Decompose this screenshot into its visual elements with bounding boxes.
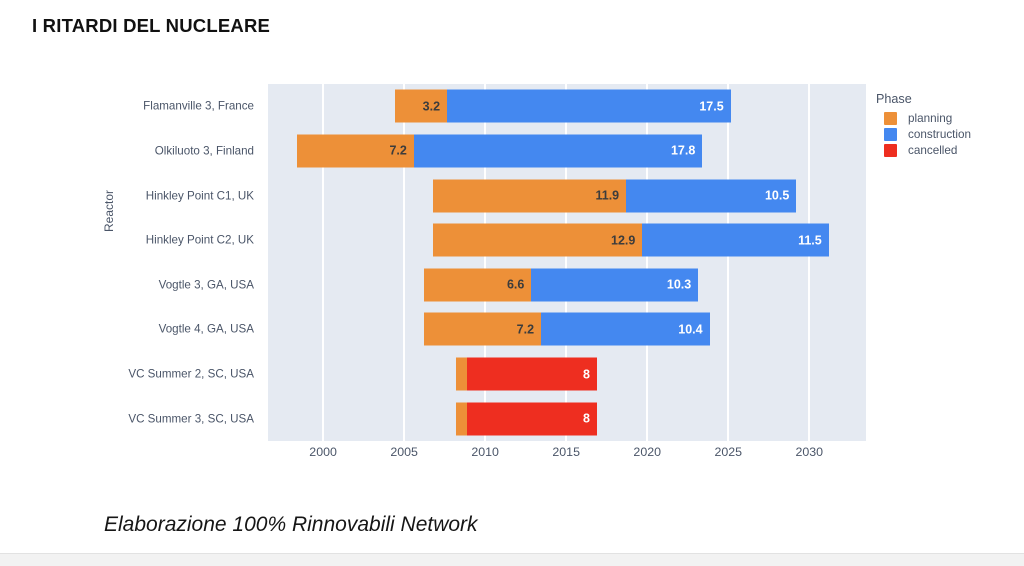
y-axis-tick-label: Vogtle 3, GA, USA [159,278,254,291]
bar-segment-planning[interactable]: 3.2 [395,90,447,123]
legend-item-planning[interactable]: planning [876,112,1016,125]
legend-item-label: construction [908,128,971,141]
bar-segment-planning[interactable]: 7.2 [297,134,414,167]
bar-segment-planning[interactable]: 12.9 [433,224,642,257]
plot-area: 3.217.57.217.811.910.512.911.56.610.37.2… [268,84,866,441]
bar-segment-cancelled[interactable]: 8 [467,358,597,391]
bar-value-label: 3.2 [423,99,440,113]
bar-segment-planning[interactable] [456,402,467,435]
bar-row: 3.217.5 [268,84,866,129]
x-axis-tick-label: 2025 [714,445,742,459]
legend-swatch-icon [884,144,897,157]
bar-value-label: 17.5 [699,99,723,113]
y-axis-tick-label: VC Summer 3, SC, USA [128,412,254,425]
window-bottom-strip [0,553,1024,566]
bar-value-label: 10.5 [765,189,789,203]
bar-value-label: 12.9 [611,233,635,247]
bar-value-label: 8 [583,367,590,381]
bar-row: 11.910.5 [268,173,866,218]
legend-items: planningconstructioncancelled [876,112,1016,157]
bar-value-label: 8 [583,412,590,426]
bar-value-label: 10.3 [667,278,691,292]
legend-item-label: planning [908,112,952,125]
bar-value-label: 7.2 [389,144,406,158]
chart-figure: Reactor Flamanville 3, FranceOlkiluoto 3… [0,0,1024,470]
bar-segment-construction[interactable]: 10.3 [531,268,698,301]
bar-row: 6.610.3 [268,263,866,308]
bar-value-label: 6.6 [507,278,524,292]
bar-value-label: 10.4 [678,322,702,336]
chart-caption: Elaborazione 100% Rinnovabili Network [104,513,478,537]
bar-segment-construction[interactable]: 17.8 [414,134,702,167]
bar-segment-construction[interactable]: 10.4 [541,313,710,346]
bar-row: 12.911.5 [268,218,866,263]
bar-value-label: 17.8 [671,144,695,158]
y-axis-tick-label: VC Summer 2, SC, USA [128,368,254,381]
x-axis-tick-label: 2000 [309,445,337,459]
legend-item-label: cancelled [908,144,957,157]
bar-row: 7.217.8 [268,129,866,174]
bar-value-label: 11.9 [596,189,620,203]
x-axis-tick-label: 2010 [471,445,499,459]
bar-segment-planning[interactable]: 11.9 [433,179,626,212]
y-axis-tick-label: Flamanville 3, France [143,100,254,113]
legend-item-cancelled[interactable]: cancelled [876,144,1016,157]
y-axis-tick-label: Hinkley Point C2, UK [146,234,254,247]
legend-title: Phase [876,92,1016,106]
x-axis-tick-label: 2005 [390,445,418,459]
legend-swatch-icon [884,128,897,141]
x-axis-tick-label: 2020 [633,445,661,459]
legend-item-construction[interactable]: construction [876,128,1016,141]
bar-segment-cancelled[interactable]: 8 [467,402,597,435]
y-axis-tick-label: Vogtle 4, GA, USA [159,323,254,336]
y-axis-tick-labels: Flamanville 3, FranceOlkiluoto 3, Finlan… [0,84,262,441]
bar-row: 7.210.4 [268,307,866,352]
x-axis-tick-label: 2015 [552,445,580,459]
x-axis-tick-label: 2030 [795,445,823,459]
chart-legend: Phase planningconstructioncancelled [876,92,1016,160]
bar-segment-planning[interactable] [456,358,467,391]
bar-row: 8 [268,396,866,441]
bar-value-label: 11.5 [798,233,822,247]
x-axis-tick-labels: 2000200520102015202020252030 [268,441,866,465]
bar-segment-construction[interactable]: 17.5 [447,90,731,123]
bar-segment-construction[interactable]: 10.5 [626,179,796,212]
bar-segment-planning[interactable]: 7.2 [424,313,541,346]
bar-value-label: 7.2 [517,322,534,336]
bar-segment-construction[interactable]: 11.5 [642,224,828,257]
y-axis-tick-label: Hinkley Point C1, UK [146,189,254,202]
slide-canvas: I RITARDI DEL NUCLEARE Reactor Flamanvil… [0,0,1024,553]
y-axis-tick-label: Olkiluoto 3, Finland [155,144,254,157]
bar-segment-planning[interactable]: 6.6 [424,268,531,301]
bar-row: 8 [268,352,866,397]
legend-swatch-icon [884,112,897,125]
